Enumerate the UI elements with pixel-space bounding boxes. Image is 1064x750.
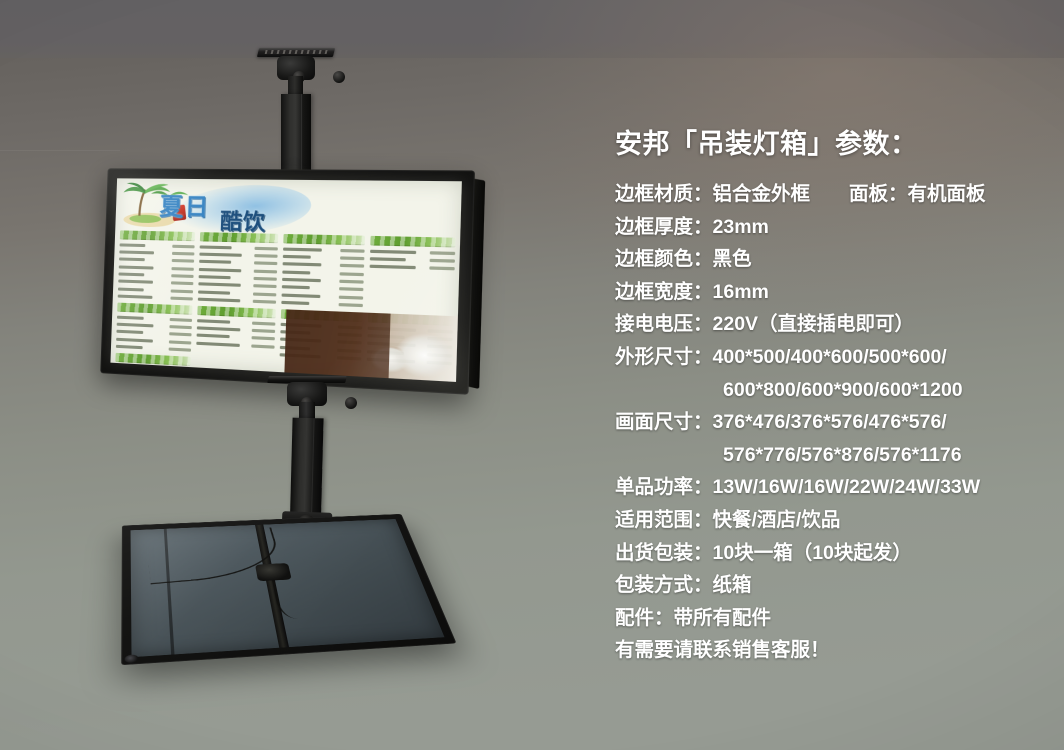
product-photo-scene: 夏日 酷饮 [0, 0, 1064, 750]
vignette-overlay [0, 0, 1064, 750]
